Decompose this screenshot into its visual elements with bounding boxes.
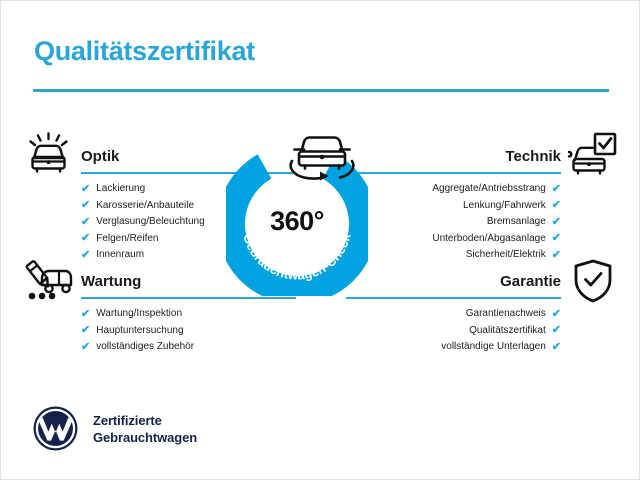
- footer-line-1: Zertifizierte: [93, 412, 197, 429]
- section-technik-divider: [346, 172, 561, 174]
- list-item-label: Hauptuntersuchung: [96, 323, 183, 340]
- check-icon: ✔: [81, 250, 90, 261]
- list-item-label: vollständiges Zubehör: [96, 339, 194, 356]
- list-item: ✔Hauptuntersuchung: [81, 323, 296, 340]
- section-garantie-list: Garantienachweis✔ Qualitätszertifikat✔ v…: [346, 306, 561, 356]
- section-technik-list: Aggregate/Antriebsstrang✔ Lenkung/Fahrwe…: [346, 181, 561, 264]
- section-garantie-divider: [346, 297, 561, 299]
- list-item-label: Lackierung: [96, 181, 145, 198]
- check-icon: ✔: [552, 184, 561, 195]
- list-item-label: Garantienachweis: [466, 306, 546, 323]
- section-wartung-divider: [81, 297, 296, 299]
- svg-text:Gebrauchtwagen-Check: Gebrauchtwagen-Check: [240, 231, 354, 283]
- quality-certificate-page: Qualitätszertifikat: [0, 0, 640, 480]
- footer-brand: Zertifizierte Gebrauchtwagen: [32, 405, 197, 452]
- car-rotate-360-icon: [284, 127, 360, 190]
- check-icon: ✔: [81, 200, 90, 211]
- section-technik-header: Technik: [346, 148, 561, 174]
- list-item-label: Unterboden/Abgasanlage: [432, 231, 545, 248]
- title-divider: [33, 89, 609, 92]
- section-garantie-title: Garantie: [346, 273, 561, 291]
- car-service-pen-icon: [25, 257, 75, 306]
- check-icon: ✔: [81, 184, 90, 195]
- list-item: ✔vollständiges Zubehör: [81, 339, 296, 356]
- list-item-label: vollständige Unterlagen: [441, 339, 546, 356]
- list-item-label: Felgen/Reifen: [96, 231, 158, 248]
- check-icon: ✔: [81, 233, 90, 244]
- section-garantie: Garantie Garantienachweis✔ Qualitätszert…: [346, 273, 561, 356]
- page-title: Qualitätszertifikat: [34, 36, 255, 67]
- check-icon: ✔: [552, 217, 561, 228]
- check-icon: ✔: [552, 200, 561, 211]
- list-item: Sicherheit/Elektrik✔: [346, 247, 561, 264]
- list-item-label: Lenkung/Fahrwerk: [463, 198, 546, 215]
- check-icon: ✔: [81, 217, 90, 228]
- list-item-label: Bremsanlage: [487, 214, 546, 231]
- check-icon: ✔: [552, 233, 561, 244]
- check-icon: ✔: [552, 250, 561, 261]
- list-item-label: Wartung/Inspektion: [96, 306, 182, 323]
- list-item-label: Sicherheit/Elektrik: [466, 247, 546, 264]
- section-technik-title: Technik: [346, 148, 561, 166]
- list-item-label: Innenraum: [96, 247, 144, 264]
- list-item: vollständige Unterlagen✔: [346, 339, 561, 356]
- list-item-label: Qualitätszertifikat: [469, 323, 546, 340]
- footer-line-2: Gebrauchtwagen: [93, 429, 197, 446]
- list-item-label: Aggregate/Antriebsstrang: [432, 181, 545, 198]
- section-garantie-header: Garantie: [346, 273, 561, 299]
- shield-check-icon: [572, 259, 614, 308]
- check-icon: ✔: [81, 309, 90, 320]
- volkswagen-logo-icon: [32, 405, 79, 452]
- list-item: Garantienachweis✔: [346, 306, 561, 323]
- list-item: Aggregate/Antriebsstrang✔: [346, 181, 561, 198]
- car-checkbox-icon: [567, 132, 617, 181]
- list-item: Lenkung/Fahrwerk✔: [346, 198, 561, 215]
- check-icon: ✔: [81, 342, 90, 353]
- list-item: Qualitätszertifikat✔: [346, 323, 561, 340]
- check-icon: ✔: [552, 309, 561, 320]
- check-icon: ✔: [552, 342, 561, 353]
- section-wartung-list: ✔Wartung/Inspektion ✔Hauptuntersuchung ✔…: [81, 306, 296, 356]
- list-item: Unterboden/Abgasanlage✔: [346, 231, 561, 248]
- check-icon: ✔: [552, 325, 561, 336]
- list-item: Bremsanlage✔: [346, 214, 561, 231]
- section-technik: Technik Aggregate/Antriebsstrang✔ Lenkun…: [346, 148, 561, 264]
- check-icon: ✔: [81, 325, 90, 336]
- list-item-label: Verglasung/Beleuchtung: [96, 214, 204, 231]
- list-item-label: Karosserie/Anbauteile: [96, 198, 194, 215]
- car-polish-shine-icon: [25, 132, 73, 179]
- list-item: ✔Wartung/Inspektion: [81, 306, 296, 323]
- footer-brand-text: Zertifizierte Gebrauchtwagen: [93, 412, 197, 446]
